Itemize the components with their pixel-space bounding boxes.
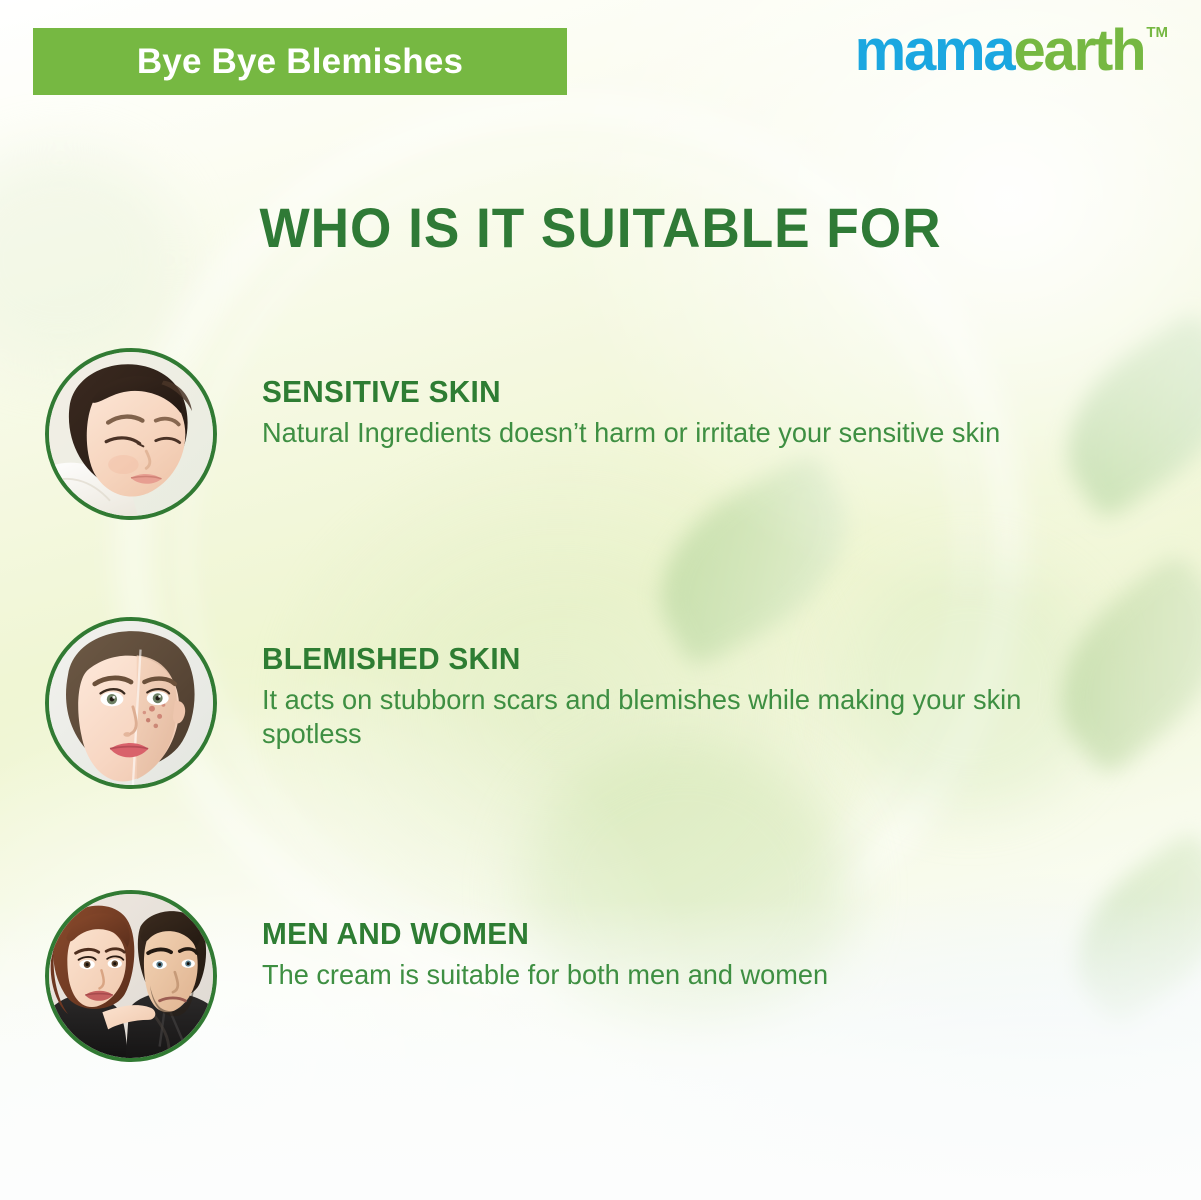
list-item-heading: SENSITIVE SKIN bbox=[262, 374, 1125, 410]
list-item-heading: BLEMISHED SKIN bbox=[262, 641, 1125, 677]
sensitive-skin-photo bbox=[45, 348, 217, 520]
list-item-heading: MEN AND WOMEN bbox=[262, 916, 1125, 952]
list-item-body: It acts on stubborn scars and blemishes … bbox=[262, 683, 1116, 751]
list-item-text: BLEMISHED SKIN It acts on stubborn scars… bbox=[262, 617, 1161, 751]
list-item-text: MEN AND WOMEN The cream is suitable for … bbox=[262, 890, 1161, 992]
blemished-skin-photo bbox=[45, 617, 217, 789]
list-item-body: Natural Ingredients doesn’t harm or irri… bbox=[262, 416, 1091, 450]
benefit-list: SENSITIVE SKIN Natural Ingredients doesn… bbox=[0, 0, 1201, 1200]
men-and-women-photo bbox=[45, 890, 217, 1062]
list-item: BLEMISHED SKIN It acts on stubborn scars… bbox=[45, 617, 1161, 789]
list-item: SENSITIVE SKIN Natural Ingredients doesn… bbox=[45, 348, 1161, 520]
list-item-body: The cream is suitable for both men and w… bbox=[262, 958, 1116, 992]
list-item-text: SENSITIVE SKIN Natural Ingredients doesn… bbox=[262, 348, 1161, 450]
list-item: MEN AND WOMEN The cream is suitable for … bbox=[45, 890, 1161, 1062]
